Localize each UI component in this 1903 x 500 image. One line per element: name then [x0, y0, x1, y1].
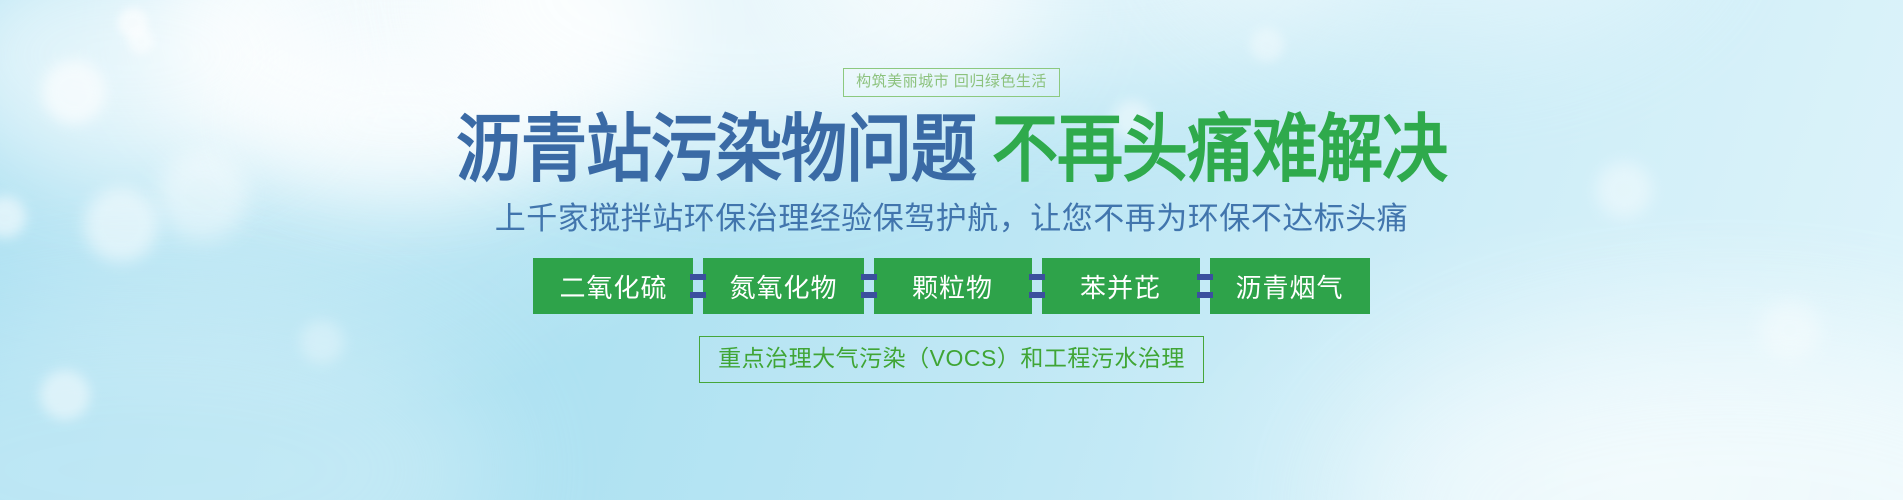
- tag-separator: [1200, 258, 1210, 314]
- tag-asphalt-fume[interactable]: 沥青烟气: [1210, 258, 1370, 314]
- tag-separator: [864, 258, 874, 314]
- tag-so2[interactable]: 二氧化硫: [533, 258, 693, 314]
- headline-green-text: 不再头痛难解决: [992, 106, 1447, 192]
- tag-nox[interactable]: 氮氧化物: [703, 258, 863, 314]
- tagline-badge: 构筑美丽城市 回归绿色生活: [843, 68, 1060, 97]
- pollutant-tag-row: 二氧化硫 氮氧化物 颗粒物 苯并芘 沥青烟气: [533, 258, 1369, 314]
- bottom-note-box: 重点治理大气污染（VOCS）和工程污水治理: [699, 336, 1204, 383]
- page-title: 沥青站污染物问题不再头痛难解决: [456, 113, 1447, 187]
- tag-particulate[interactable]: 颗粒物: [874, 258, 1032, 314]
- tag-separator: [693, 258, 703, 314]
- headline-blue-text: 沥青站污染物问题: [456, 106, 976, 192]
- tag-separator: [1032, 258, 1042, 314]
- subtitle-text: 上千家搅拌站环保治理经验保驾护航，让您不再为环保不达标头痛: [495, 203, 1409, 234]
- tag-benzopyrene[interactable]: 苯并芘: [1042, 258, 1200, 314]
- promo-banner: 构筑美丽城市 回归绿色生活 沥青站污染物问题不再头痛难解决 上千家搅拌站环保治理…: [0, 0, 1903, 500]
- banner-content: 构筑美丽城市 回归绿色生活 沥青站污染物问题不再头痛难解决 上千家搅拌站环保治理…: [0, 0, 1903, 500]
